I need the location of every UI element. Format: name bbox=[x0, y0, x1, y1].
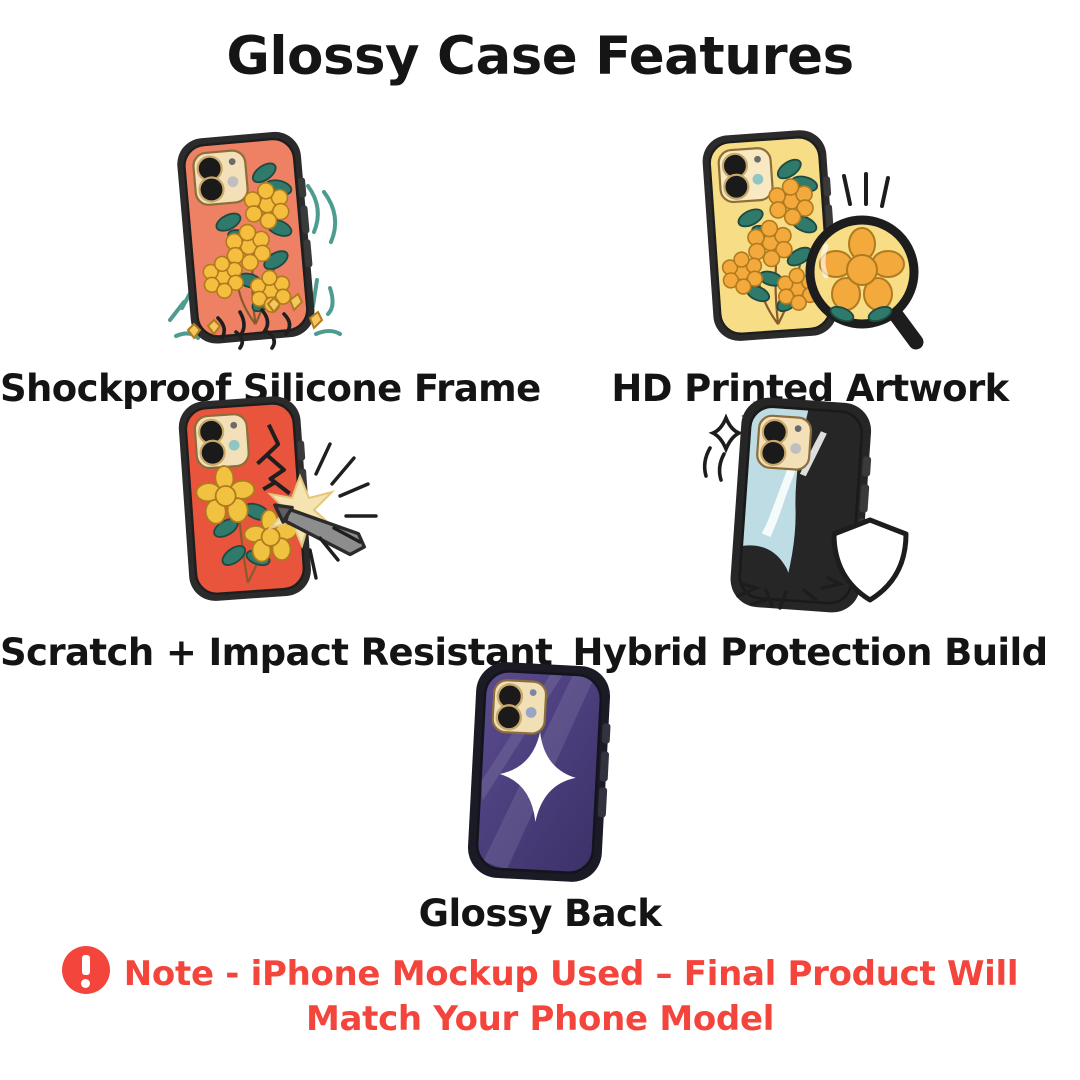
exclamation-circle-icon bbox=[62, 946, 110, 994]
phone-case-yellow-floral-magnifier-icon bbox=[680, 128, 940, 356]
feature-item-glossy-back: Glossy Back bbox=[270, 660, 810, 934]
phone-case-coral-floral-impact-icon bbox=[140, 128, 400, 356]
feature-item-hybrid-protection-build: Hybrid Protection Build bbox=[540, 392, 1080, 673]
feature-item-scratch-impact-resistant: Scratch + Impact Resistant bbox=[0, 392, 540, 673]
note-line-2: Match Your Phone Model bbox=[0, 997, 1080, 1042]
phone-case-purple-glossy-sparkle-icon bbox=[410, 660, 670, 885]
note-line-1: Note - iPhone Mockup Used – Final Produc… bbox=[124, 954, 1018, 994]
phone-case-blue-glossy-shield-icon bbox=[680, 392, 940, 620]
product-feature-infographic: Glossy Case Features bbox=[0, 0, 1080, 1080]
feature-item-hd-printed-artwork: HD Printed Artwork bbox=[540, 128, 1080, 409]
phone-case-coral-knife-scratch-icon bbox=[140, 392, 400, 620]
note-disclaimer: Note - iPhone Mockup Used – Final Produc… bbox=[0, 946, 1080, 1042]
feature-item-shockproof-silicone-frame: Shockproof Silicone Frame bbox=[0, 128, 540, 409]
page-title: Glossy Case Features bbox=[0, 26, 1080, 87]
feature-caption: Glossy Back bbox=[270, 895, 810, 934]
